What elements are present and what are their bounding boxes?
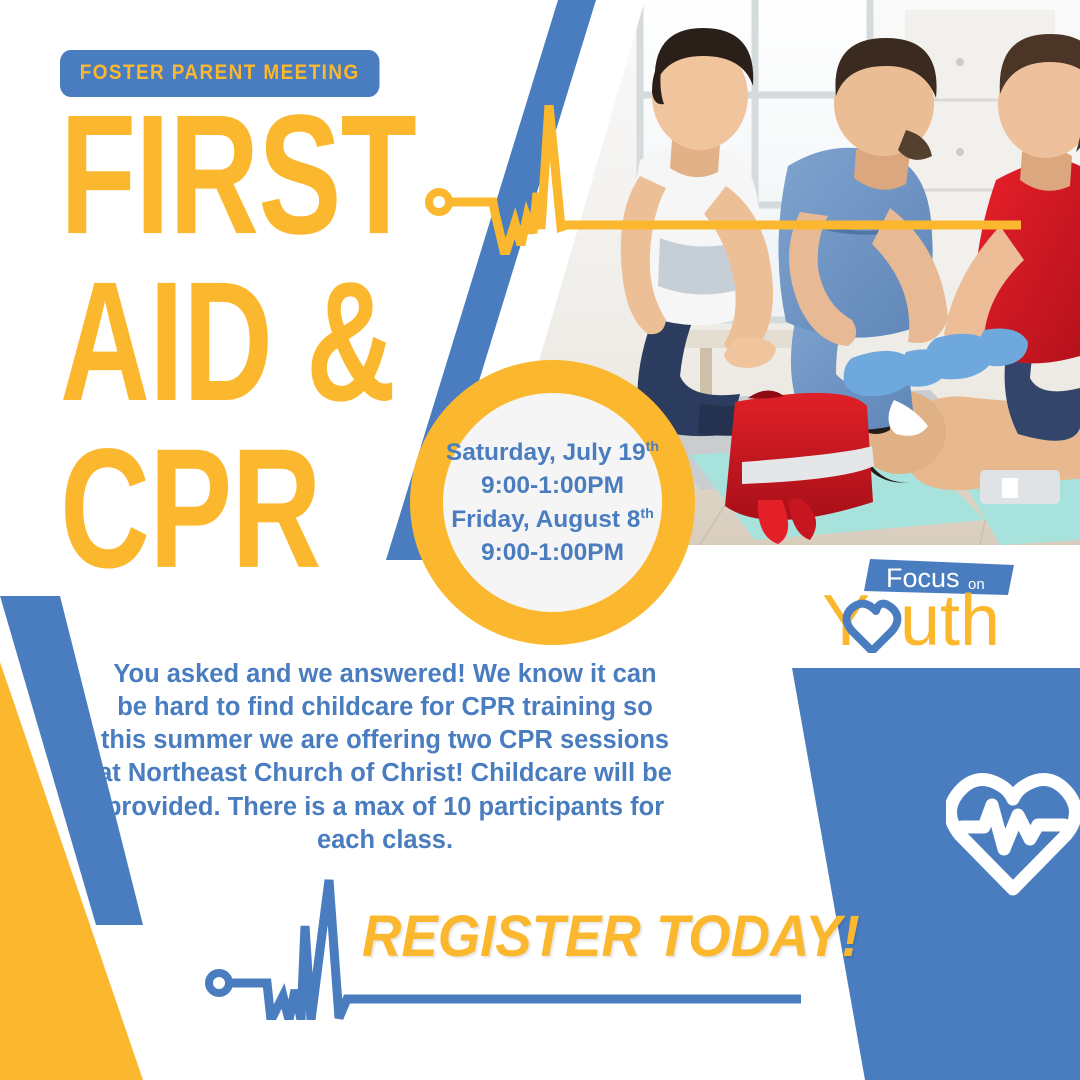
session-dates-text: Saturday, July 19th 9:00-1:00PM Friday, … [443,393,662,612]
focus-on-youth-logo: Focus on Y uth [818,553,1018,653]
session-dates-circle: Saturday, July 19th 9:00-1:00PM Friday, … [410,360,695,645]
page-title: FIRST AID & CPR [60,92,416,592]
register-cta[interactable]: REGISTER TODAY! [362,903,860,970]
session-2-time: 9:00-1:00PM [481,536,624,569]
session-2-date: Friday, August 8th [451,503,654,536]
session-1-date: Saturday, July 19th [446,436,659,469]
poster-canvas: FOSTER PARENT MEETING Saturday, July 19t… [0,0,1080,1080]
title-line-2: AID & [60,259,416,426]
session-1-time: 9:00-1:00PM [481,469,624,502]
title-line-3: CPR [60,426,416,593]
description-text: You asked and we answered! We know it ca… [96,658,674,857]
logo-wordmark-post: uth [900,581,1000,653]
heart-pulse-icon [946,763,1080,897]
heartbeat-line-icon [425,105,1025,255]
title-line-1: FIRST [60,92,416,259]
